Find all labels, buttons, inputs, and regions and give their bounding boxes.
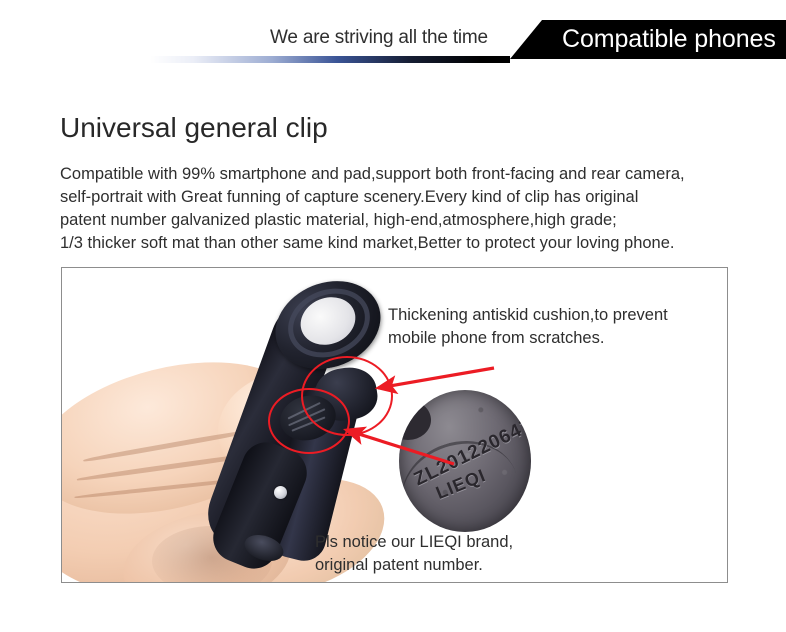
product-photo-panel: ZL201220647 LIEQI Thickening antiskid cu… — [61, 267, 728, 583]
header-gradient-bar — [150, 56, 510, 63]
header-banner: We are striving all the time Compatible … — [0, 0, 786, 78]
annotation-line: mobile phone from scratches. — [388, 327, 668, 350]
annotation-line: Thickening antiskid cushion,to prevent — [388, 304, 668, 327]
annotation-cushion-text: Thickening antiskid cushion,to prevent m… — [388, 304, 668, 350]
intro-paragraph-line: Compatible with 99% smartphone and pad,s… — [60, 163, 760, 186]
intro-paragraph-line: self-portrait with Great funning of capt… — [60, 186, 760, 209]
annotation-line: Pls notice our LIEQI brand, — [315, 531, 513, 554]
header-tagline: We are striving all the time — [270, 27, 488, 49]
annotation-brand-text: Pls notice our LIEQI brand, original pat… — [315, 531, 513, 577]
arrow-to-cushion — [378, 368, 494, 388]
page-title: Universal general clip — [60, 112, 328, 144]
highlight-circle-brand — [268, 388, 350, 454]
intro-paragraph: Compatible with 99% smartphone and pad,s… — [60, 163, 760, 255]
intro-paragraph-line: 1/3 thicker soft mat than other same kin… — [60, 232, 760, 255]
clip-rivet — [274, 486, 287, 499]
patent-magnified-inset: ZL201220647 LIEQI — [399, 390, 531, 532]
header-title: Compatible phones — [562, 25, 776, 54]
annotation-line: original patent number. — [315, 554, 513, 577]
intro-paragraph-line: patent number galvanized plastic materia… — [60, 209, 760, 232]
